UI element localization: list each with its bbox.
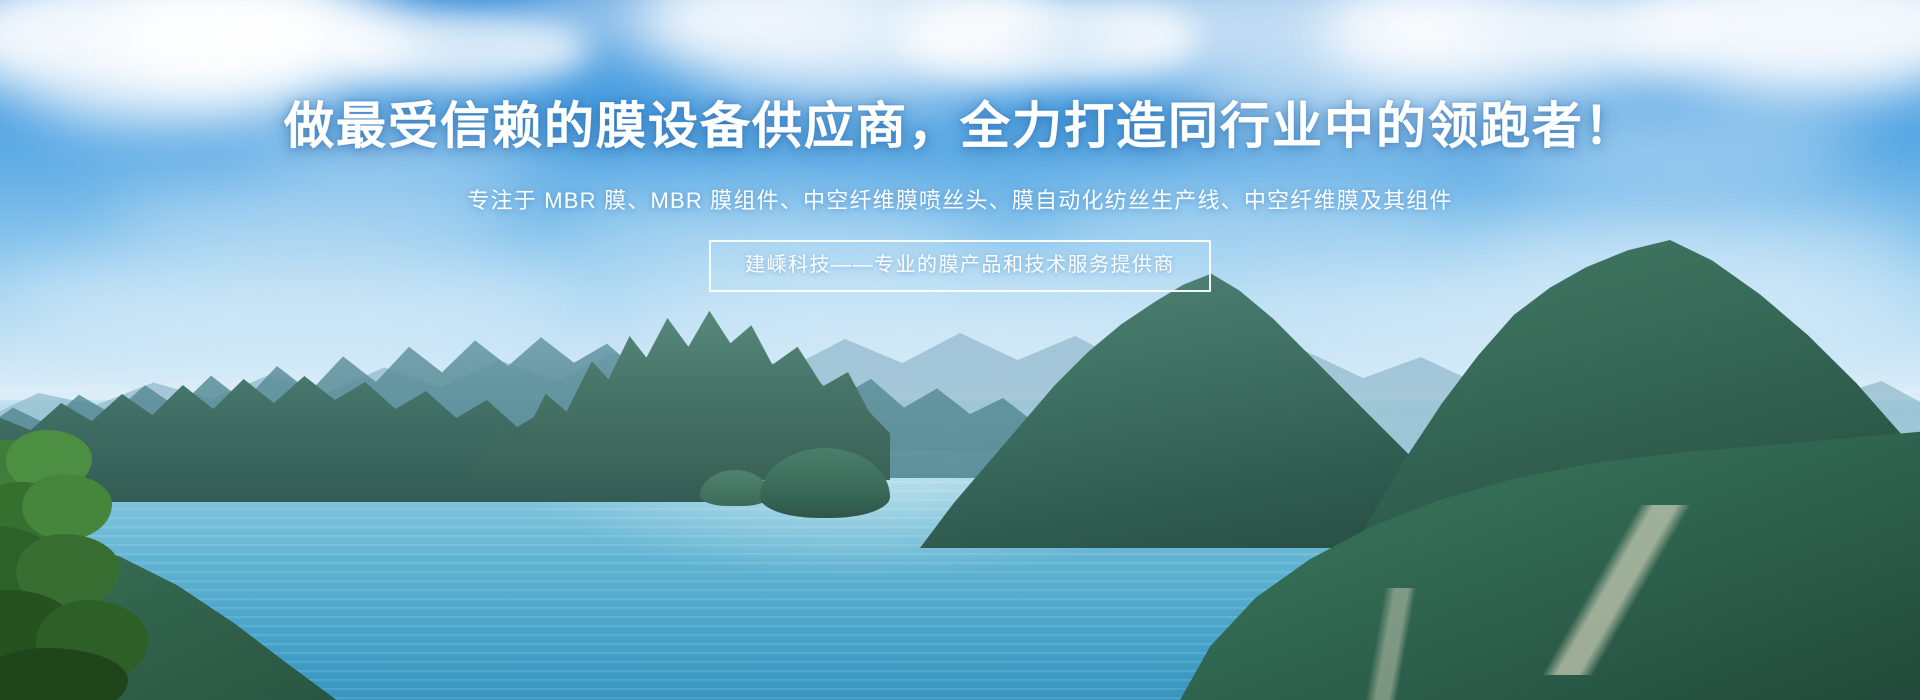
banner-content: 做最受信赖的膜设备供应商，全力打造同行业中的领跑者！ 专注于 MBR 膜、MBR…: [0, 0, 1920, 700]
banner-slogan-box: 建嵊科技——专业的膜产品和技术服务提供商: [709, 240, 1211, 292]
banner-headline: 做最受信赖的膜设备供应商，全力打造同行业中的领跑者！: [0, 95, 1920, 158]
banner-slogan-wrapper: 建嵊科技——专业的膜产品和技术服务提供商: [0, 240, 1920, 292]
hero-banner: 做最受信赖的膜设备供应商，全力打造同行业中的领跑者！ 专注于 MBR 膜、MBR…: [0, 0, 1920, 700]
banner-subtitle: 专注于 MBR 膜、MBR 膜组件、中空纤维膜喷丝头、膜自动化纺丝生产线、中空纤…: [0, 184, 1920, 217]
